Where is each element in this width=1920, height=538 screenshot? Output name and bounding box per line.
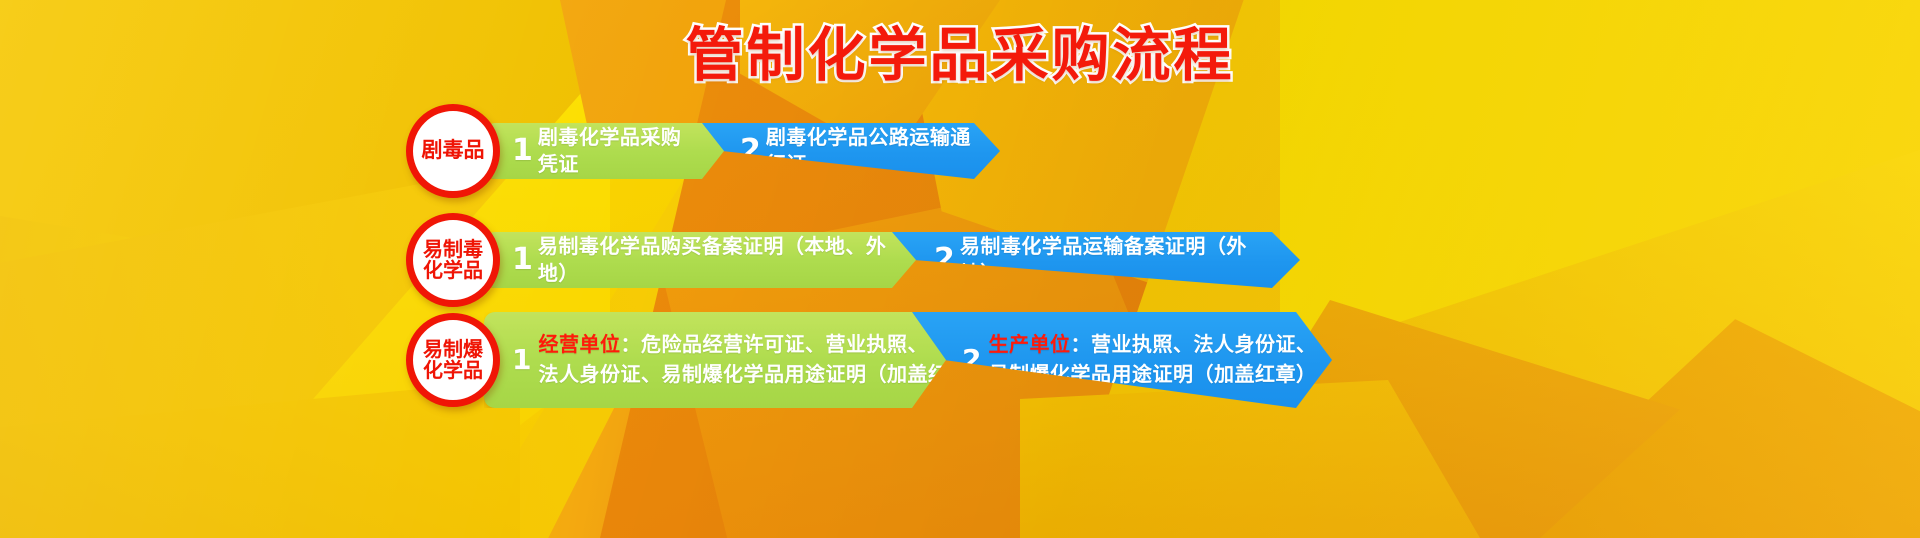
step-separator: ： xyxy=(620,332,641,356)
flow-row: 易制毒化学品 1 易制毒化学品购买备案证明（本地、外地） 2 易制毒化学品运输备… xyxy=(0,213,1300,307)
step-line-1: 危险品经营许可证、营业执照、 xyxy=(641,332,928,356)
step-emphasis: 经营单位 xyxy=(538,332,620,356)
badge-label: 易制爆化学品 xyxy=(423,339,483,381)
step-label: 易制毒化学品购买备案证明（本地、外地） xyxy=(538,233,890,287)
flow-row: 易制爆化学品 1 经营单位：危险品经营许可证、营业执照、 法人身份证、易制爆化学… xyxy=(0,312,1332,408)
step-line-2: 法人身份证、易制爆化学品用途证明（加盖红章） xyxy=(538,360,989,390)
flow-row: 剧毒品 1 剧毒化学品采购凭证 2 剧毒化学品公路运输通行证 xyxy=(0,104,1000,198)
step-number: 1 xyxy=(512,245,533,275)
step-label: 经营单位：危险品经营许可证、营业执照、 法人身份证、易制爆化学品用途证明（加盖红… xyxy=(538,330,989,389)
step-label: 生产单位：营业执照、法人身份证、 易制爆化学品用途证明（加盖红章） xyxy=(988,330,1316,389)
step-line-1: 营业执照、法人身份证、 xyxy=(1091,332,1317,356)
step-number: 1 xyxy=(512,346,531,374)
badge-label: 易制毒化学品 xyxy=(423,239,483,281)
step-blue-3-2[interactable]: 2 生产单位：营业执照、法人身份证、 易制爆化学品用途证明（加盖红章） xyxy=(912,312,1332,408)
category-badge-precursor-drug[interactable]: 易制毒化学品 xyxy=(406,213,500,307)
step-separator: ： xyxy=(1070,332,1091,356)
step-green-2-1[interactable]: 1 易制毒化学品购买备案证明（本地、外地） xyxy=(484,232,916,288)
category-badge-precursor-explosive[interactable]: 易制爆化学品 xyxy=(406,313,500,407)
step-number: 2 xyxy=(962,346,981,374)
step-green-1-1[interactable]: 1 剧毒化学品采购凭证 xyxy=(484,123,724,179)
page-title: 管制化学品采购流程 xyxy=(685,8,1234,92)
poster-canvas: 管制化学品采购流程 剧毒品 1 剧毒化学品采购凭证 2 剧毒化学品公路运输通行证… xyxy=(0,0,1920,538)
step-number: 2 xyxy=(740,136,761,166)
step-blue-1-2[interactable]: 2 剧毒化学品公路运输通行证 xyxy=(700,123,1000,179)
step-label: 易制毒化学品运输备案证明（外地） xyxy=(960,233,1276,287)
category-badge-toxic[interactable]: 剧毒品 xyxy=(406,104,500,198)
step-number: 2 xyxy=(934,245,955,275)
step-label: 剧毒化学品采购凭证 xyxy=(538,124,698,178)
step-label: 剧毒化学品公路运输通行证 xyxy=(766,124,976,178)
step-blue-2-2[interactable]: 2 易制毒化学品运输备案证明（外地） xyxy=(890,232,1300,288)
step-emphasis: 生产单位 xyxy=(988,332,1070,356)
title-area: 管制化学品采购流程 xyxy=(0,8,1920,92)
badge-label: 剧毒品 xyxy=(422,140,485,161)
step-number: 1 xyxy=(512,136,533,166)
step-line-2: 易制爆化学品用途证明（加盖红章） xyxy=(988,360,1316,390)
step-green-3-1[interactable]: 1 经营单位：危险品经营许可证、营业执照、 法人身份证、易制爆化学品用途证明（加… xyxy=(484,312,946,408)
